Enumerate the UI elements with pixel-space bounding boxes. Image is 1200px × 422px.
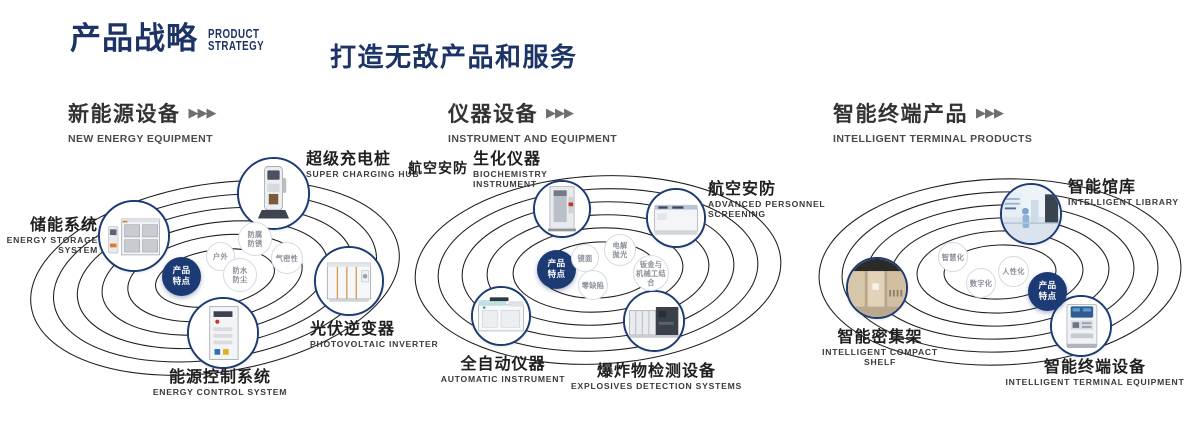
section-title-en: NEW ENERGY EQUIPMENT [68,133,216,145]
node-energy-storage-system[interactable] [98,200,170,272]
feature-bubble-3: 零缺陷 [578,270,608,300]
section-title-en: INTELLIGENT TERMINAL PRODUCTS [833,133,1032,145]
node-label-cn: 能源控制系统 [90,368,350,386]
node-label-cn: 储能系统 [0,216,98,234]
cluster-intelligent-terminal: 智能馆库 INTELLIGENT LIBRARY 智能密集架 [800,150,1200,400]
section-title-cn: 新能源设备 [68,98,181,128]
node-label-en: ENERGY STORAGE SYSTEM [0,236,98,255]
feature-core-bubble: 产品 特点 [1028,272,1067,311]
chevron-triple-icon: ▶▶▶ [976,105,1003,121]
node-label-cn: 智能密集架 [770,328,990,346]
node-photovoltaic-inverter[interactable] [314,246,384,316]
node-label-en: INTELLIGENT COMPACT SHELF [770,348,990,367]
feature-bubble-4: 气密性 [271,242,303,274]
node-label-en: ENERGY CONTROL SYSTEM [90,388,350,398]
control-cabinet-photo [189,299,257,367]
label-biochemistry-instrument: 生化仪器 BIOCHEMISTRY INSTRUMENT [473,150,603,189]
node-advanced-personnel-screening[interactable] [646,188,706,248]
feature-bubble-1: 智慧化 [938,242,968,272]
feature-core-bubble: 产品 特点 [162,257,201,296]
screening-machine-photo [648,190,704,246]
battery-cabinet-photo [100,202,168,270]
smart-library-photo [1002,185,1060,243]
poster-canvas: 产品战略 PRODUCT STRATEGY 打造无敌产品和服务 新能源设备▶▶▶… [0,0,1200,422]
feature-bubble-2: 数字化 [966,268,996,298]
section-title-cn: 仪器设备 [448,98,538,128]
feature-bubble-4: 钣金与 机械工结合 [633,255,669,291]
pv-inverter-photo [316,248,382,314]
node-energy-control-system[interactable] [187,297,259,369]
cluster-instrument: 航空安防 生化仪器 BIOCHEMISTRY INSTRUMENT 航空安防 A… [398,150,798,400]
label-intelligent-library: 智能馆库 INTELLIGENT LIBRARY [1068,178,1200,208]
section-heading-intelligent-terminal: 智能终端产品▶▶▶ INTELLIGENT TERMINAL PRODUCTS [833,98,1032,145]
charging-pile-photo [239,159,308,228]
node-label-cn: 生化仪器 [473,150,603,168]
label-energy-control-system: 能源控制系统 ENERGY CONTROL SYSTEM [90,368,350,398]
node-intelligent-compact-shelf[interactable] [846,257,908,319]
feature-bubble-2: 电解 抛光 [604,234,636,266]
section-title-en: INSTRUMENT AND EQUIPMENT [448,133,617,145]
node-label-cn: 智能终端设备 [980,358,1200,376]
chevron-triple-icon: ▶▶▶ [189,105,216,121]
node-label-en: EXPLOSIVES DETECTION SYSTEMS [544,382,769,392]
node-label-cn: 智能馆库 [1068,178,1200,196]
explosives-detector-photo [625,292,683,350]
label-intelligent-compact-shelf: 智能密集架 INTELLIGENT COMPACT SHELF [770,328,990,367]
label-energy-storage-system: 储能系统 ENERGY STORAGE SYSTEM [0,216,98,255]
node-label-en: INTELLIGENT LIBRARY [1068,198,1200,208]
biochem-scanner-photo [535,182,589,236]
page-title-cn: 产品战略 [70,24,198,55]
label-intelligent-terminal-equipment: 智能终端设备 INTELLIGENT TERMINAL EQUIPMENT [980,358,1200,388]
feature-bubble-3: 防水 防尘 [223,258,257,292]
node-intelligent-library[interactable] [1000,183,1062,245]
page-title: 产品战略 PRODUCT STRATEGY [70,24,280,55]
page-title-en: PRODUCT STRATEGY [208,28,264,54]
feature-bubble-3: 人性化 [998,256,1029,287]
automatic-analyzer-photo [473,288,529,344]
node-super-charging-hub[interactable] [237,157,310,230]
section-title-cn: 智能终端产品 [833,98,968,128]
section-heading-new-energy: 新能源设备▶▶▶ NEW ENERGY EQUIPMENT [68,98,216,145]
feature-bubble-2: 防腐 防锈 [238,222,272,256]
node-explosives-detection[interactable] [623,290,685,352]
node-label-cn: 爆炸物检测设备 [544,362,769,380]
chevron-triple-icon: ▶▶▶ [546,105,573,121]
compact-shelf-photo [848,259,906,317]
page-subtitle: 打造无敌产品和服务 [330,37,578,74]
node-label-en: BIOCHEMISTRY INSTRUMENT [473,170,603,189]
feature-bubble-1: 镜面 [571,244,599,272]
label-explosives-detection: 爆炸物检测设备 EXPLOSIVES DETECTION SYSTEMS [544,362,769,392]
node-automatic-instrument[interactable] [471,286,531,346]
cluster-new-energy: 储能系统 ENERGY STORAGE SYSTEM 超级充电桩 SUPER C… [10,150,410,400]
node-label-en: INTELLIGENT TERMINAL EQUIPMENT [980,378,1200,388]
section-heading-instrument: 仪器设备▶▶▶ INSTRUMENT AND EQUIPMENT [448,98,617,145]
